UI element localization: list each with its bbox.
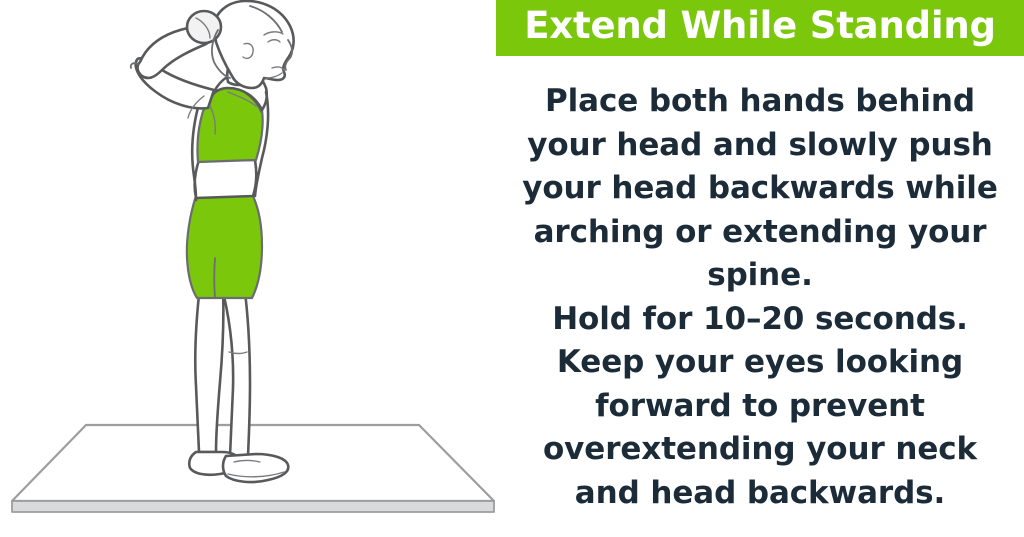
instruction-line: overextending your neck xyxy=(510,428,1010,472)
hair-bun-shape xyxy=(187,11,221,43)
midriff xyxy=(195,160,257,198)
text-panel: Extend While Standing Place both hands b… xyxy=(496,0,1024,537)
shorts-leg-split xyxy=(214,258,215,298)
instruction-line: your head and slowly push xyxy=(510,124,1010,168)
instruction-line: spine. xyxy=(510,254,1010,298)
exercise-instruction-card: .ln { fill:none; stroke:#58595b; stroke-… xyxy=(0,0,1024,537)
instruction-line: forward to prevent xyxy=(510,385,1010,429)
instruction-line: and head backwards. xyxy=(510,472,1010,516)
instruction-line: your head backwards while xyxy=(510,167,1010,211)
mat-front-edge xyxy=(12,501,494,512)
head-profile xyxy=(214,1,294,88)
instruction-line: arching or extending your xyxy=(510,211,1010,255)
instruction-line: Keep your eyes looking xyxy=(510,341,1010,385)
head-shape xyxy=(214,1,294,88)
title-bar: Extend While Standing xyxy=(496,0,1024,56)
shorts-shape xyxy=(187,194,262,298)
instruction-line: Hold for 10–20 seconds. xyxy=(510,298,1010,342)
page-title: Extend While Standing xyxy=(524,6,996,46)
midriff-shape xyxy=(195,160,257,198)
illustration-panel: .ln { fill:none; stroke:#58595b; stroke-… xyxy=(0,0,496,537)
instructions-block: Place both hands behind your head and sl… xyxy=(510,80,1010,515)
exercise-figure-illustration: .ln { fill:none; stroke:#58595b; stroke-… xyxy=(0,0,496,537)
instruction-line: Place both hands behind xyxy=(510,80,1010,124)
near-shoe xyxy=(223,454,288,482)
shorts xyxy=(187,194,262,298)
